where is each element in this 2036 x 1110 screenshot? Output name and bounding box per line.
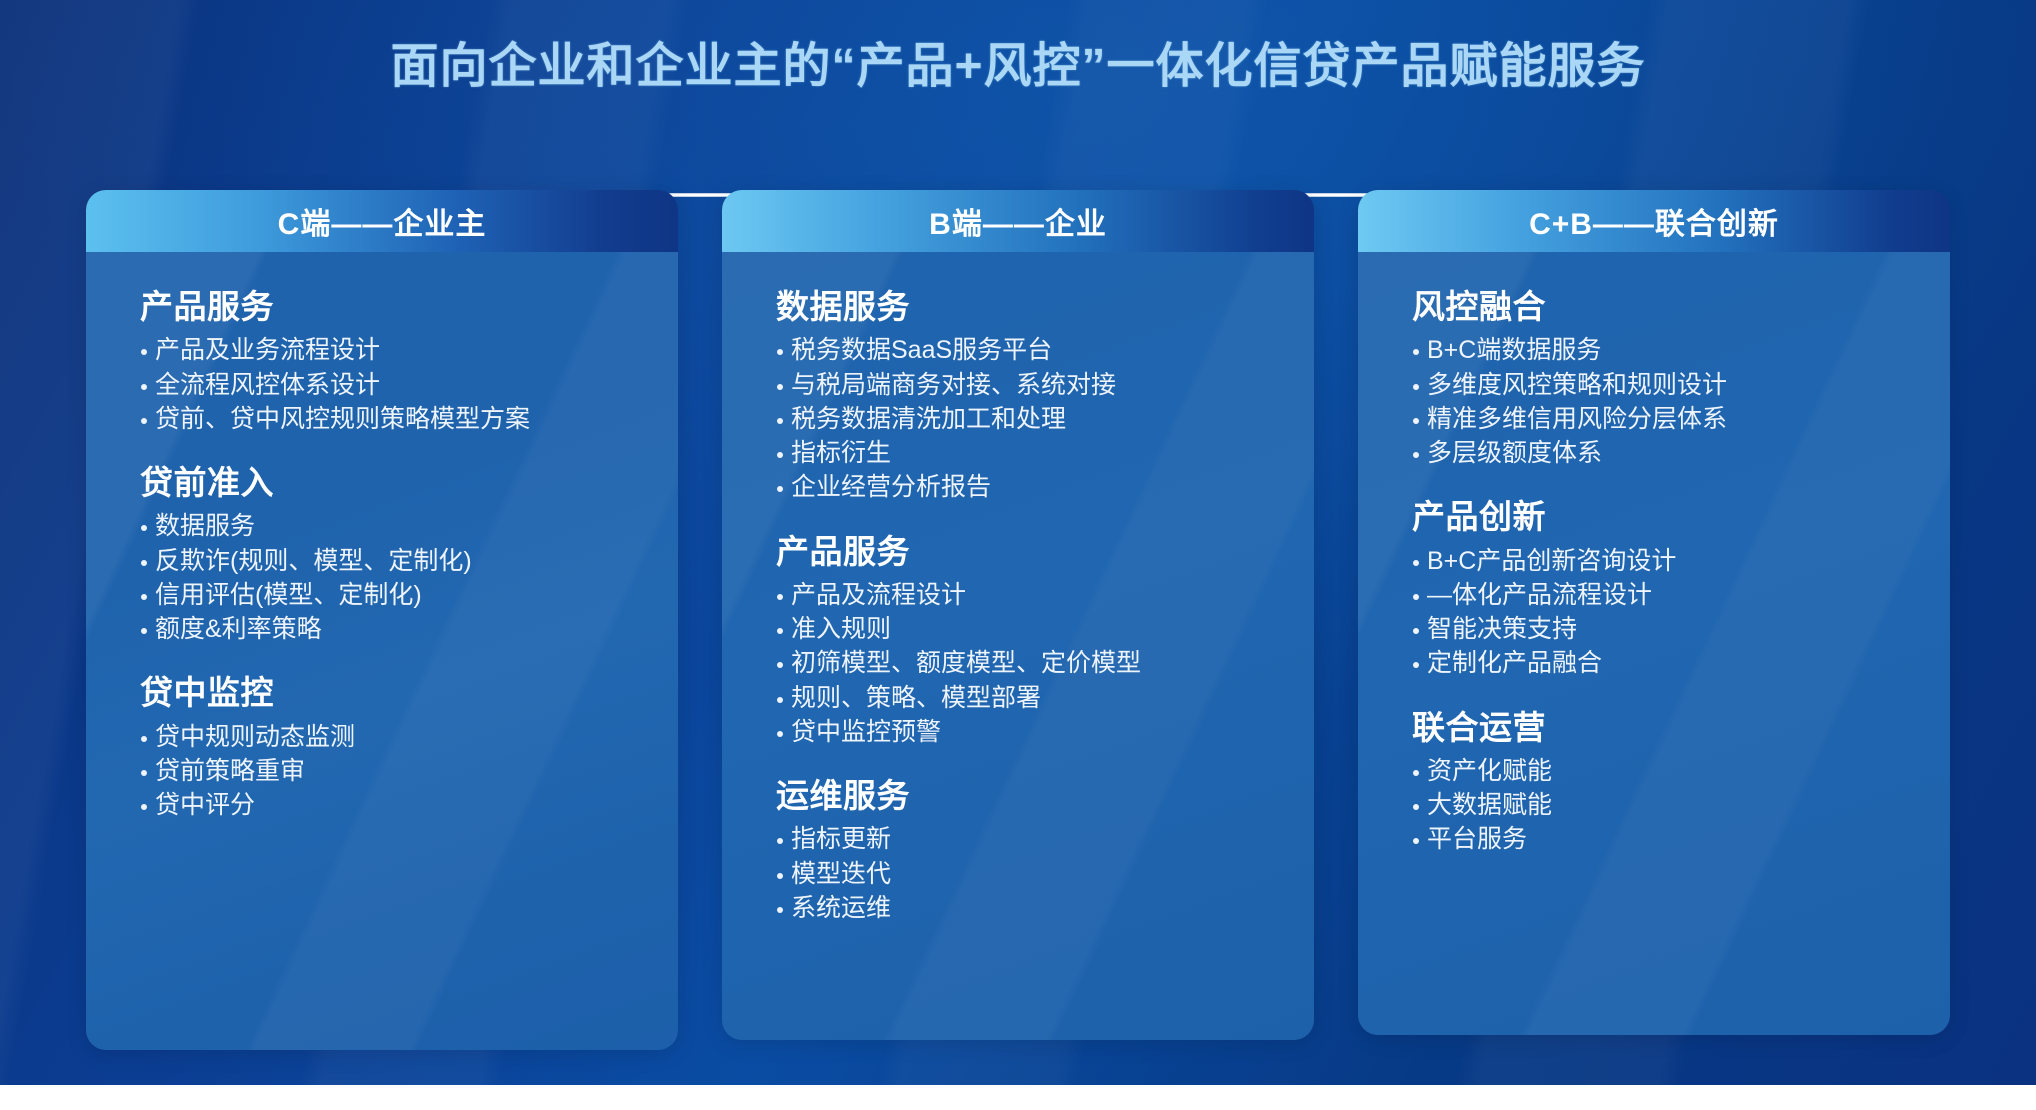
column-body-b-end: 数据服务 税务数据SaaS服务平台 与税局端商务对接、系统对接 税务数据清洗加工… bbox=[722, 252, 1314, 1040]
column-card-b-end: B端——企业 数据服务 税务数据SaaS服务平台 与税局端商务对接、系统对接 税… bbox=[722, 190, 1314, 1040]
bullet-list: 数据服务 反欺诈(规则、模型、定制化) 信用评估(模型、定制化) 额度&利率策略 bbox=[140, 509, 678, 646]
bullet-list: 产品及流程设计 准入规则 初筛模型、额度模型、定价模型 规则、策略、模型部署 贷… bbox=[776, 578, 1314, 749]
bullet-list: 税务数据SaaS服务平台 与税局端商务对接、系统对接 税务数据清洗加工和处理 指… bbox=[776, 333, 1314, 504]
columns-container: C端——企业主 产品服务 产品及业务流程设计 全流程风控体系设计 贷前、贷中风控… bbox=[0, 190, 2036, 1050]
group-product-service: 产品服务 产品及流程设计 准入规则 初筛模型、额度模型、定价模型 规则、策略、模… bbox=[776, 531, 1314, 750]
column-card-cb-innovation: C+B——联合创新 风控融合 B+C端数据服务 多维度风控策略和规则设计 精准多… bbox=[1358, 190, 1950, 1035]
list-item: 税务数据SaaS服务平台 bbox=[776, 333, 1314, 367]
group-title: 贷前准入 bbox=[140, 462, 678, 503]
list-item: 初筛模型、额度模型、定价模型 bbox=[776, 646, 1314, 680]
column-body-cb-innovation: 风控融合 B+C端数据服务 多维度风控策略和规则设计 精准多维信用风险分层体系 … bbox=[1358, 252, 1950, 1035]
group-in-loan-monitoring: 贷中监控 贷中规则动态监测 贷前策略重审 贷中评分 bbox=[140, 672, 678, 822]
list-item: 指标更新 bbox=[776, 822, 1314, 856]
bullet-list: B+C端数据服务 多维度风控策略和规则设计 精准多维信用风险分层体系 多层级额度… bbox=[1412, 333, 1950, 470]
group-product-service: 产品服务 产品及业务流程设计 全流程风控体系设计 贷前、贷中风控规则策略模型方案 bbox=[140, 286, 678, 436]
list-item: 贷前、贷中风控规则策略模型方案 bbox=[140, 402, 678, 436]
list-item: 额度&利率策略 bbox=[140, 612, 678, 646]
list-item: 资产化赋能 bbox=[1412, 754, 1950, 788]
group-title: 联合运营 bbox=[1412, 707, 1950, 748]
group-operation-maintenance-service: 运维服务 指标更新 模型迭代 系统运维 bbox=[776, 775, 1314, 925]
bullet-list: 贷中规则动态监测 贷前策略重审 贷中评分 bbox=[140, 720, 678, 823]
list-item: 全流程风控体系设计 bbox=[140, 368, 678, 402]
group-data-service: 数据服务 税务数据SaaS服务平台 与税局端商务对接、系统对接 税务数据清洗加工… bbox=[776, 286, 1314, 505]
list-item: 大数据赋能 bbox=[1412, 788, 1950, 822]
group-title: 产品创新 bbox=[1412, 496, 1950, 537]
group-title: 运维服务 bbox=[776, 775, 1314, 816]
list-item: 贷中规则动态监测 bbox=[140, 720, 678, 754]
list-item: 企业经营分析报告 bbox=[776, 470, 1314, 504]
list-item: —体化产品流程设计 bbox=[1412, 578, 1950, 612]
list-item: 产品及业务流程设计 bbox=[140, 333, 678, 367]
group-title: 数据服务 bbox=[776, 286, 1314, 327]
group-title: 产品服务 bbox=[776, 531, 1314, 572]
list-item: 系统运维 bbox=[776, 891, 1314, 925]
list-item: B+C端数据服务 bbox=[1412, 333, 1950, 367]
group-product-innovation: 产品创新 B+C产品创新咨询设计 —体化产品流程设计 智能决策支持 定制化产品融… bbox=[1412, 496, 1950, 680]
column-card-c-end: C端——企业主 产品服务 产品及业务流程设计 全流程风控体系设计 贷前、贷中风控… bbox=[86, 190, 678, 1050]
group-joint-operation: 联合运营 资产化赋能 大数据赋能 平台服务 bbox=[1412, 707, 1950, 857]
list-item: 多维度风控策略和规则设计 bbox=[1412, 368, 1950, 402]
list-item: B+C产品创新咨询设计 bbox=[1412, 544, 1950, 578]
list-item: 规则、策略、模型部署 bbox=[776, 681, 1314, 715]
group-title: 产品服务 bbox=[140, 286, 678, 327]
slide-background: 面向企业和企业主的“产品+风控”一体化信贷产品赋能服务 bbox=[0, 0, 2036, 1085]
list-item: 定制化产品融合 bbox=[1412, 646, 1950, 680]
list-item: 智能决策支持 bbox=[1412, 612, 1950, 646]
column-body-c-end: 产品服务 产品及业务流程设计 全流程风控体系设计 贷前、贷中风控规则策略模型方案… bbox=[86, 252, 678, 1050]
slide-canvas: 面向企业和企业主的“产品+风控”一体化信贷产品赋能服务 bbox=[0, 0, 2036, 1110]
list-item: 与税局端商务对接、系统对接 bbox=[776, 368, 1314, 402]
page-title: 面向企业和企业主的“产品+风控”一体化信贷产品赋能服务 bbox=[0, 26, 2036, 96]
group-risk-control-fusion: 风控融合 B+C端数据服务 多维度风控策略和规则设计 精准多维信用风险分层体系 … bbox=[1412, 286, 1950, 470]
bullet-list: 指标更新 模型迭代 系统运维 bbox=[776, 822, 1314, 925]
column-header-cb-innovation: C+B——联合创新 bbox=[1358, 190, 1950, 252]
bullet-list: 资产化赋能 大数据赋能 平台服务 bbox=[1412, 754, 1950, 857]
list-item: 贷前策略重审 bbox=[140, 754, 678, 788]
list-item: 产品及流程设计 bbox=[776, 578, 1314, 612]
list-item: 精准多维信用风险分层体系 bbox=[1412, 402, 1950, 436]
list-item: 平台服务 bbox=[1412, 822, 1950, 856]
list-item: 模型迭代 bbox=[776, 857, 1314, 891]
list-item: 指标衍生 bbox=[776, 436, 1314, 470]
group-title: 风控融合 bbox=[1412, 286, 1950, 327]
list-item: 多层级额度体系 bbox=[1412, 436, 1950, 470]
bullet-list: B+C产品创新咨询设计 —体化产品流程设计 智能决策支持 定制化产品融合 bbox=[1412, 544, 1950, 681]
list-item: 反欺诈(规则、模型、定制化) bbox=[140, 544, 678, 578]
list-item: 贷中评分 bbox=[140, 788, 678, 822]
bullet-list: 产品及业务流程设计 全流程风控体系设计 贷前、贷中风控规则策略模型方案 bbox=[140, 333, 678, 436]
column-header-b-end: B端——企业 bbox=[722, 190, 1314, 252]
list-item: 数据服务 bbox=[140, 509, 678, 543]
list-item: 税务数据清洗加工和处理 bbox=[776, 402, 1314, 436]
group-pre-loan-admission: 贷前准入 数据服务 反欺诈(规则、模型、定制化) 信用评估(模型、定制化) 额度… bbox=[140, 462, 678, 646]
list-item: 贷中监控预警 bbox=[776, 715, 1314, 749]
group-title: 贷中监控 bbox=[140, 672, 678, 713]
column-header-c-end: C端——企业主 bbox=[86, 190, 678, 252]
list-item: 准入规则 bbox=[776, 612, 1314, 646]
list-item: 信用评估(模型、定制化) bbox=[140, 578, 678, 612]
